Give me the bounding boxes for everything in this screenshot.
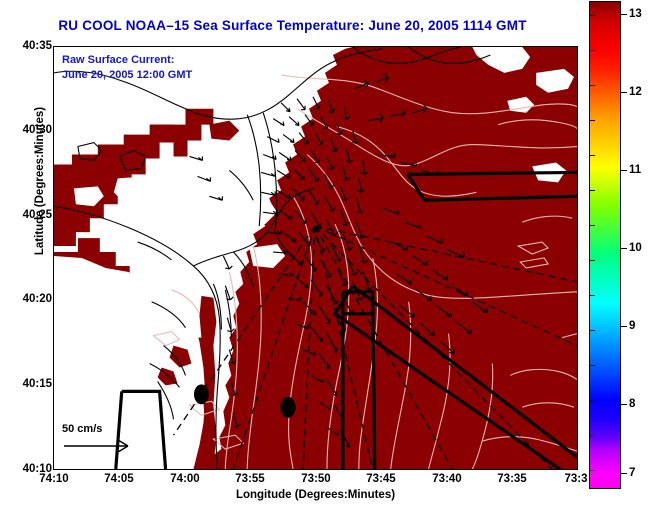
colorbar-tick-13: 13 (629, 8, 642, 20)
x-tick-73-50: 73:50 (281, 473, 351, 485)
station-marker-1 (194, 384, 209, 404)
colorbar-tick-11: 11 (629, 164, 641, 176)
colorbar-tick-12: 12 (629, 86, 642, 98)
colorbar-tick-7: 7 (629, 467, 635, 479)
sst-map-canvas (54, 47, 577, 469)
colorbar-tick-9: 9 (629, 320, 635, 332)
x-tick-73-35: 73:35 (477, 473, 547, 485)
vector-scale-arrow-icon (62, 435, 140, 455)
chart-title: RU COOL NOAA–15 Sea Surface Temperature:… (0, 18, 585, 33)
colorbar-group: 13 12 11 10 9 8 7 Temperature (°C) (589, 1, 651, 491)
x-tick-73-55: 73:55 (215, 473, 285, 485)
vector-scale-legend: 50 cm/s (62, 423, 140, 460)
y-tick-40-35: 40:35 (0, 40, 52, 52)
y-tick-40-15: 40:15 (0, 378, 52, 390)
annotation-line-2: June 20, 2005 12:00 GMT (62, 68, 192, 83)
x-tick-73-40: 73:40 (412, 473, 482, 485)
vector-scale-label: 50 cm/s (62, 423, 140, 435)
colorbar-tick-8: 8 (629, 398, 635, 410)
y-axis-title: Latitude (Degrees:Minutes) (34, 81, 46, 281)
x-tick-74-10: 74:10 (19, 473, 89, 485)
station-marker-2 (281, 397, 296, 418)
temperature-colorbar (589, 1, 621, 489)
y-tick-40-20: 40:20 (0, 293, 52, 305)
x-tick-74-00: 74:00 (150, 473, 220, 485)
plot-area: Raw Surface Current: June 20, 2005 12:00… (53, 46, 578, 470)
annotation-line-1: Raw Surface Current: (62, 53, 192, 68)
surface-current-annotation: Raw Surface Current: June 20, 2005 12:00… (62, 53, 192, 83)
x-tick-74-05: 74:05 (84, 473, 154, 485)
x-tick-73-45: 73:45 (346, 473, 416, 485)
colorbar-tick-10: 10 (629, 242, 642, 254)
x-axis-title: Longitude (Degrees:Minutes) (53, 489, 578, 501)
